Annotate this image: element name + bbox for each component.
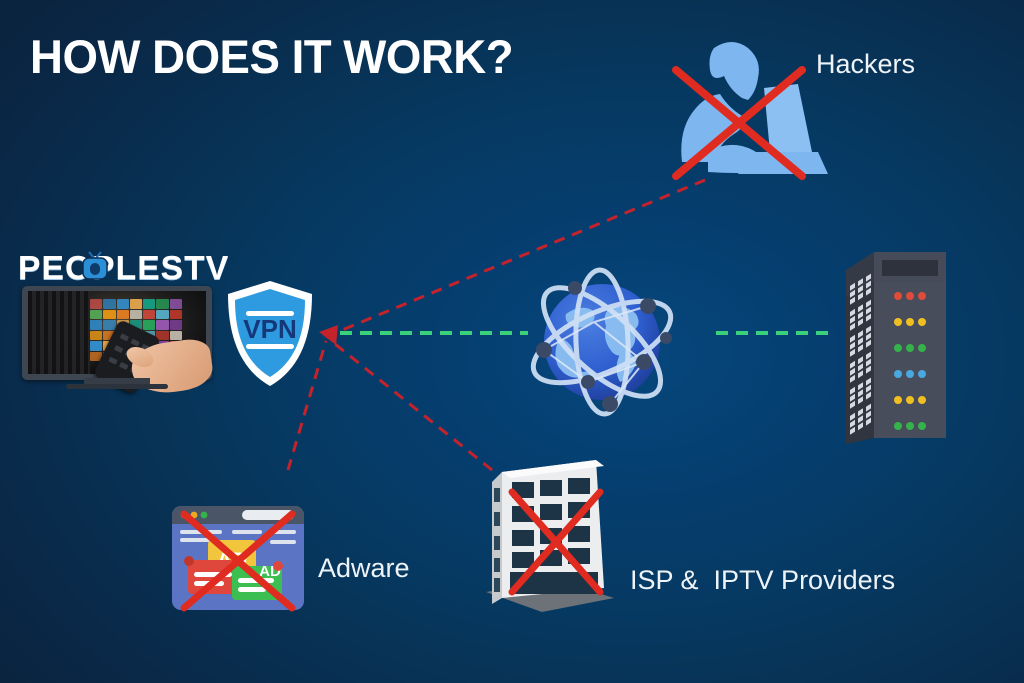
television-with-remote	[22, 286, 212, 390]
shield-bottom-line	[246, 344, 294, 349]
tv-stand-base	[66, 384, 168, 389]
brand-logo: PEOPLESTV	[18, 249, 233, 289]
window-maximize-dot	[201, 512, 208, 519]
tv-icon	[80, 251, 110, 281]
vpn-shield: VPN	[224, 278, 316, 390]
hacker-silhouette	[652, 34, 832, 184]
ad-popup-red	[184, 556, 240, 594]
adware-popups: AD AD	[158, 500, 318, 615]
blocked-arrowhead	[319, 325, 338, 345]
label-hackers: Hackers	[816, 49, 915, 80]
server-rack	[836, 246, 958, 446]
vpn-label: VPN	[243, 314, 296, 344]
isp-building	[478, 452, 618, 617]
server-top-inset	[882, 260, 938, 276]
brand-logo-text: PEOPLESTV	[18, 249, 229, 287]
page-title: HOW DOES IT WORK?	[30, 29, 513, 84]
label-adware: Adware	[318, 553, 410, 584]
tv-screen-stripes	[28, 291, 90, 374]
label-isp-iptv-providers: ISP & IPTV Providers	[630, 565, 895, 596]
infographic-canvas: HOW DOES IT WORK? PEOPLESTV VPN	[0, 0, 1024, 683]
blocked-line-isp	[330, 340, 492, 470]
network-globe	[518, 258, 686, 426]
